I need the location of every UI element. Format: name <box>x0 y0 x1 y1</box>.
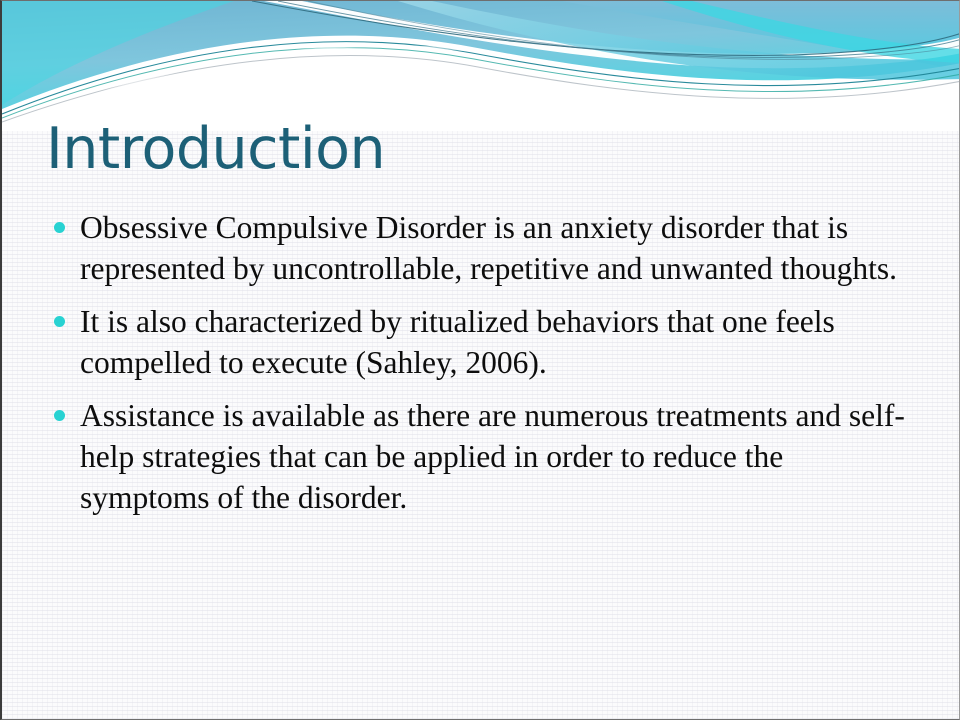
bullet-dot-icon <box>54 222 65 233</box>
list-item: Assistance is available as there are num… <box>54 395 920 518</box>
list-item-text: Obsessive Compulsive Disorder is an anxi… <box>80 207 920 289</box>
bullet-dot-icon <box>54 316 65 327</box>
teal-wave-banner <box>2 1 960 131</box>
bullet-list: Obsessive Compulsive Disorder is an anxi… <box>54 207 920 530</box>
list-item-text: Assistance is available as there are num… <box>80 395 920 518</box>
presentation-slide: Introduction Obsessive Compulsive Disord… <box>0 0 960 720</box>
list-item-text: It is also characterized by ritualized b… <box>80 301 920 383</box>
page-title: Introduction <box>46 117 385 183</box>
list-item: It is also characterized by ritualized b… <box>54 301 920 383</box>
bullet-dot-icon <box>54 410 65 421</box>
list-item: Obsessive Compulsive Disorder is an anxi… <box>54 207 920 289</box>
